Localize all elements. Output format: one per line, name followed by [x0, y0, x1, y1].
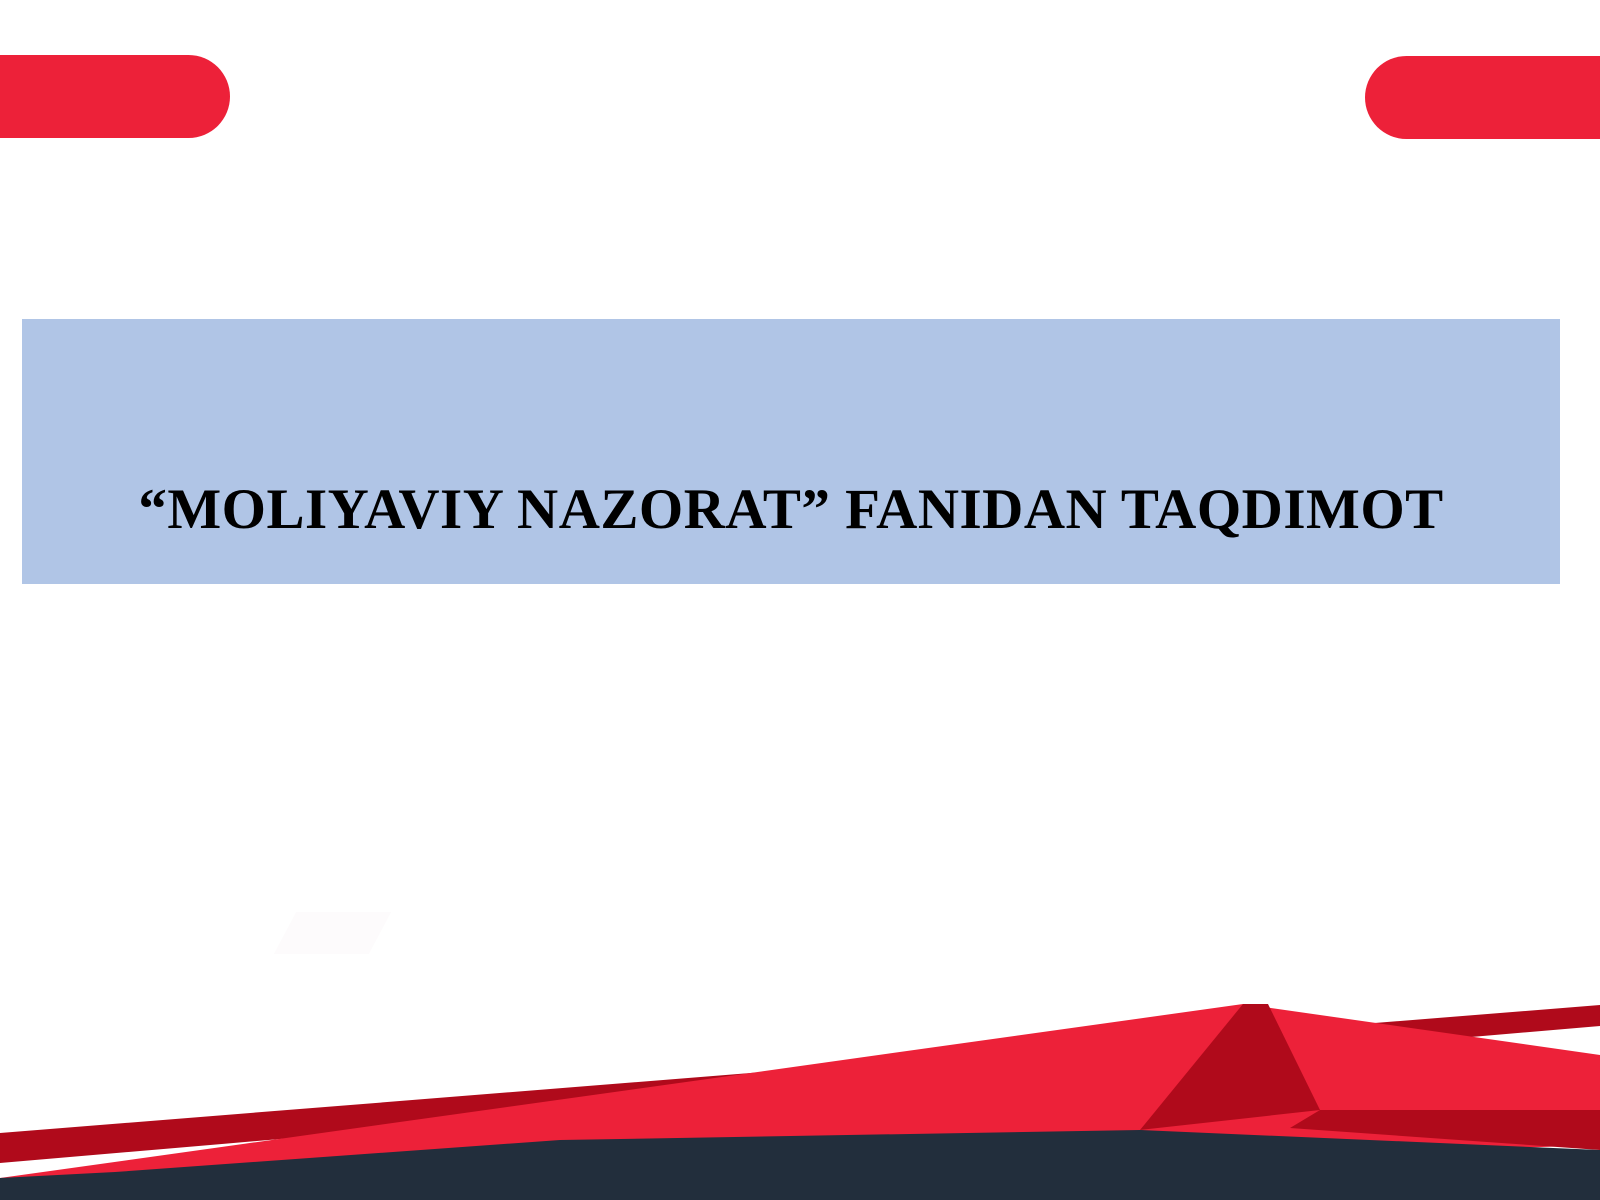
- top-left-red-pill-icon: [0, 55, 230, 138]
- bottom-angled-bands: [0, 960, 1600, 1200]
- faint-watermark-artifact: [274, 912, 391, 954]
- title-band: “MOLIYAVIY NAZORAT” FANIDAN TAQDIMOT: [22, 319, 1560, 584]
- bottom-decor-svg: [0, 960, 1600, 1200]
- slide-canvas: “MOLIYAVIY NAZORAT” FANIDAN TAQDIMOT: [0, 0, 1600, 1200]
- page-title: “MOLIYAVIY NAZORAT” FANIDAN TAQDIMOT: [138, 479, 1443, 542]
- top-right-red-pill-icon: [1365, 56, 1600, 139]
